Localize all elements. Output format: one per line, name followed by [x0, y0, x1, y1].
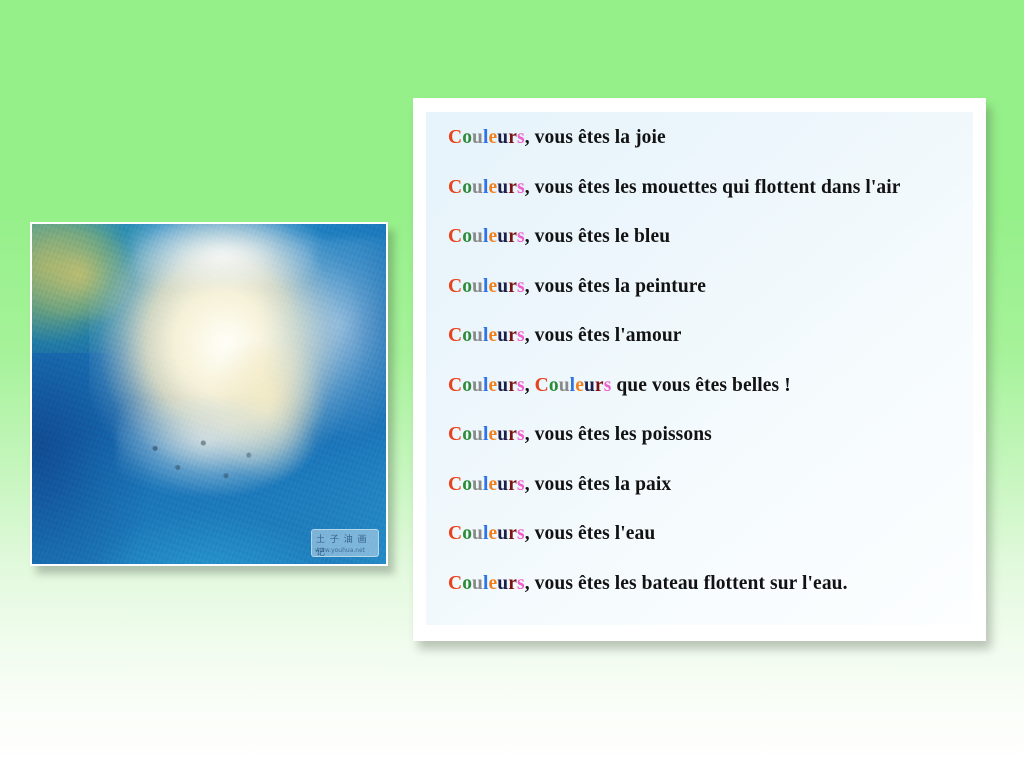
keyword-letter-0: C [448, 375, 462, 396]
keyword-letter-4: e [489, 573, 498, 594]
poem-line: Couleurs, vous êtes l'eau [448, 524, 959, 544]
keyword-couleurs: Couleurs [448, 523, 525, 544]
keyword-letter-0: C [448, 325, 462, 346]
keyword-letter-6: r [508, 127, 517, 148]
keyword-letter-7: s [517, 226, 525, 247]
keyword-letter-2: u [472, 276, 483, 297]
keyword-letter-2: u [472, 127, 483, 148]
keyword-letter-0: C [448, 226, 462, 247]
keyword-letter-1: o [462, 325, 472, 346]
keyword-letter-1: o [462, 226, 472, 247]
keyword-letter-2: u [472, 325, 483, 346]
keyword-letter-7: s [517, 424, 525, 445]
keyword-couleurs: Couleurs [448, 276, 525, 297]
keyword-letter-6: r [508, 424, 517, 445]
keyword-letter-1: o [462, 474, 472, 495]
keyword-letter-4: e [489, 276, 498, 297]
keyword-letter-5: u [497, 226, 508, 247]
keyword-couleurs: Couleurs [448, 573, 525, 594]
keyword-letter-5: u [497, 375, 508, 396]
keyword-letter-1: o [462, 424, 472, 445]
keyword-couleurs: Couleurs [448, 177, 525, 198]
keyword-letter-1: o [462, 375, 472, 396]
poem-line: Couleurs, vous êtes les mouettes qui flo… [448, 178, 959, 198]
keyword-letter-6: r [508, 573, 517, 594]
keyword-letter-2: u [472, 424, 483, 445]
poem-line-text: , vous êtes la joie [525, 127, 666, 148]
painting-figure: 土 子 油 画 记 www.youhua.net [30, 222, 388, 566]
keyword-letter-4: e [489, 375, 498, 396]
keyword-letter-2: u [559, 375, 570, 396]
keyword-letter-0: C [448, 276, 462, 297]
keyword-letter-7: s [517, 375, 525, 396]
keyword-letter-1: o [462, 523, 472, 544]
keyword-letter-0: C [448, 523, 462, 544]
keyword-couleurs: Couleurs [448, 127, 525, 148]
keyword-letter-2: u [472, 226, 483, 247]
poem-line: Couleurs, vous êtes les poissons [448, 425, 959, 445]
keyword-letter-6: r [508, 523, 517, 544]
keyword-letter-4: e [489, 424, 498, 445]
keyword-letter-5: u [497, 424, 508, 445]
keyword-letter-6: r [508, 375, 517, 396]
painting-canvas: 土 子 油 画 记 www.youhua.net [32, 224, 386, 564]
keyword-letter-5: u [584, 375, 595, 396]
paint-layer-texture [32, 224, 386, 564]
keyword-letter-1: o [462, 276, 472, 297]
keyword-letter-0: C [448, 127, 462, 148]
keyword-letter-2: u [472, 375, 483, 396]
keyword-letter-4: e [489, 325, 498, 346]
keyword-letter-5: u [497, 523, 508, 544]
keyword-couleurs-second: Couleurs [535, 375, 612, 396]
keyword-letter-7: s [517, 127, 525, 148]
keyword-letter-7: s [517, 177, 525, 198]
keyword-letter-2: u [472, 177, 483, 198]
keyword-couleurs: Couleurs [448, 226, 525, 247]
keyword-letter-7: s [517, 573, 525, 594]
poem-figure: Couleurs, vous êtes la joieCouleurs, vou… [413, 98, 986, 641]
poem-line-text: que vous êtes belles ! [611, 375, 790, 396]
keyword-letter-6: r [595, 375, 604, 396]
poem-line: Couleurs, vous êtes la joie [448, 128, 959, 148]
keyword-letter-4: e [489, 474, 498, 495]
poem-line-separator: , [525, 375, 535, 396]
keyword-letter-6: r [508, 474, 517, 495]
poem-line-text: , vous êtes la paix [525, 474, 672, 495]
poem-frame: Couleurs, vous êtes la joieCouleurs, vou… [413, 98, 986, 641]
keyword-letter-5: u [497, 474, 508, 495]
keyword-letter-7: s [517, 523, 525, 544]
poem-line: Couleurs, vous êtes le bleu [448, 227, 959, 247]
keyword-letter-5: u [497, 573, 508, 594]
keyword-letter-6: r [508, 276, 517, 297]
keyword-letter-1: o [462, 127, 472, 148]
keyword-letter-5: u [497, 276, 508, 297]
keyword-letter-4: e [575, 375, 584, 396]
poem-line-text: , vous êtes les bateau flottent sur l'ea… [525, 573, 848, 594]
keyword-couleurs: Couleurs [448, 325, 525, 346]
keyword-letter-1: o [549, 375, 559, 396]
watermark-subtext: www.youhua.net [315, 547, 365, 554]
keyword-letter-0: C [448, 573, 462, 594]
poem-line-text: , vous êtes les poissons [525, 424, 712, 445]
keyword-letter-4: e [489, 177, 498, 198]
keyword-letter-7: s [517, 325, 525, 346]
painting-frame[interactable]: 土 子 油 画 记 www.youhua.net [30, 222, 388, 566]
keyword-letter-7: s [517, 276, 525, 297]
poem-line-text: , vous êtes la peinture [525, 276, 706, 297]
keyword-letter-5: u [497, 127, 508, 148]
keyword-couleurs: Couleurs [448, 375, 525, 396]
keyword-letter-1: o [462, 177, 472, 198]
poem-line: Couleurs, vous êtes la peinture [448, 277, 959, 297]
keyword-letter-2: u [472, 523, 483, 544]
keyword-letter-0: C [448, 474, 462, 495]
keyword-couleurs: Couleurs [448, 474, 525, 495]
poem-line-text: , vous êtes l'amour [525, 325, 682, 346]
watermark-badge: 土 子 油 画 记 www.youhua.net [311, 529, 379, 557]
keyword-letter-1: o [462, 573, 472, 594]
keyword-letter-4: e [489, 226, 498, 247]
keyword-letter-6: r [508, 325, 517, 346]
poem-line: Couleurs, vous êtes les bateau flottent … [448, 574, 959, 594]
keyword-letter-7: s [517, 474, 525, 495]
keyword-letter-4: e [489, 127, 498, 148]
poem-line-text: , vous êtes les mouettes qui flottent da… [525, 177, 901, 198]
poem-text-panel: Couleurs, vous êtes la joieCouleurs, vou… [426, 112, 973, 625]
keyword-letter-0: C [535, 375, 549, 396]
keyword-letter-2: u [472, 474, 483, 495]
keyword-letter-6: r [508, 177, 517, 198]
poem-line: Couleurs, vous êtes la paix [448, 475, 959, 495]
keyword-letter-5: u [497, 177, 508, 198]
poem-line-text: , vous êtes le bleu [525, 226, 670, 247]
keyword-letter-0: C [448, 424, 462, 445]
poem-line: Couleurs, vous êtes l'amour [448, 326, 959, 346]
keyword-letter-5: u [497, 325, 508, 346]
poem-line-text: , vous êtes l'eau [525, 523, 656, 544]
keyword-letter-2: u [472, 573, 483, 594]
keyword-couleurs: Couleurs [448, 424, 525, 445]
poem-line: Couleurs, Couleurs que vous êtes belles … [448, 376, 959, 396]
keyword-letter-4: e [489, 523, 498, 544]
keyword-letter-0: C [448, 177, 462, 198]
keyword-letter-6: r [508, 226, 517, 247]
